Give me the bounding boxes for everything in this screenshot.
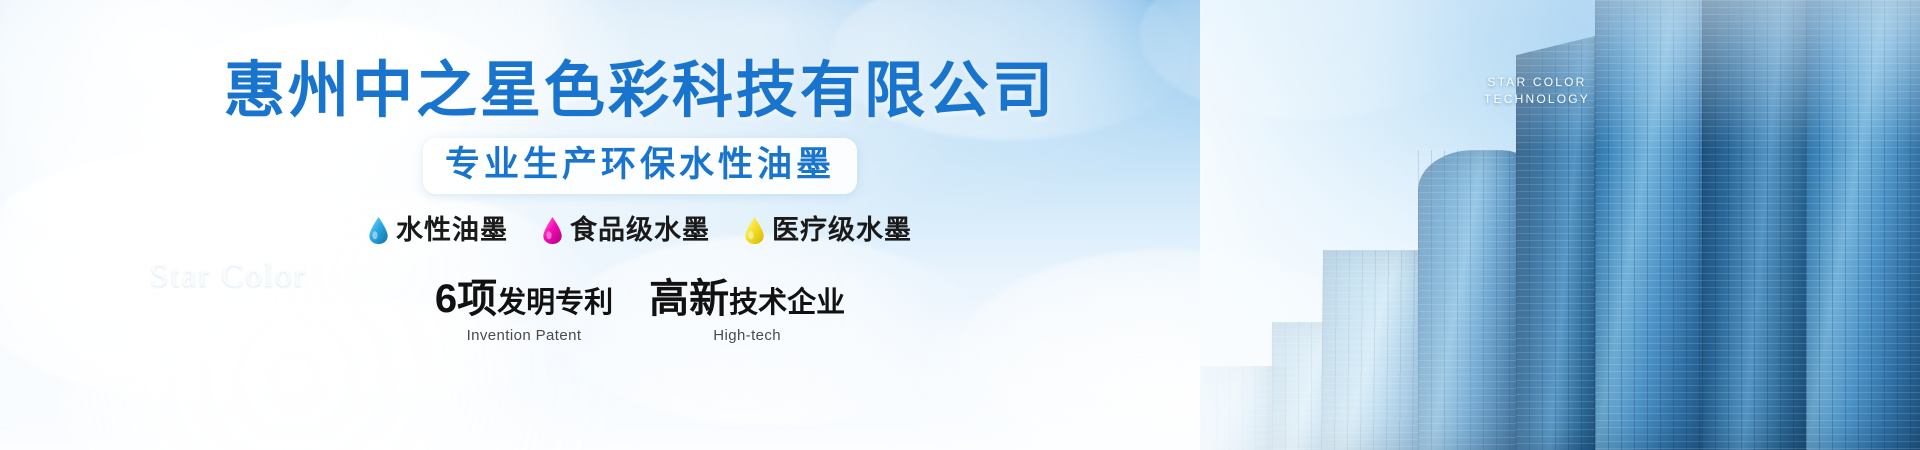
badge-small-text: 发明专利 xyxy=(497,289,613,318)
feature-item: 食品级水墨 xyxy=(542,216,710,245)
feature-item: 水性油墨 xyxy=(368,216,508,245)
badge-main-text: 高新 技术企业 xyxy=(649,279,845,319)
building-shape xyxy=(1595,0,1715,450)
feature-list: 水性油墨 食品级水墨 xyxy=(368,216,912,245)
building-shape xyxy=(1418,150,1530,450)
subtitle-text: 专业生产环保水性油墨 xyxy=(445,145,835,185)
badge-list: 6项 发明专利 Invention Patent 高新 技术企业 High-te… xyxy=(435,279,845,344)
city-skyline-image xyxy=(1200,0,1920,450)
badge-main-text: 6项 发明专利 xyxy=(435,279,613,319)
company-headline: 惠州中之星色彩科技有限公司 xyxy=(224,58,1056,122)
feature-item: 医疗级水墨 xyxy=(744,216,912,245)
building-shape xyxy=(1806,0,1920,450)
water-drop-icon xyxy=(744,216,765,245)
feature-label: 食品级水墨 xyxy=(570,217,710,244)
badge-invention-patent: 6项 发明专利 Invention Patent xyxy=(435,279,613,344)
subtitle-pill: 专业生产环保水性油墨 xyxy=(423,138,857,194)
badge-big-text: 6项 xyxy=(435,279,497,319)
badge-english-text: High-tech xyxy=(649,327,845,344)
feature-label: 水性油墨 xyxy=(396,217,508,244)
feature-label: 医疗级水墨 xyxy=(772,217,912,244)
badge-english-text: Invention Patent xyxy=(435,327,613,344)
water-drop-icon xyxy=(368,216,389,245)
badge-big-text: 高新 xyxy=(649,279,729,319)
promo-banner: STAR COLOR TECHNOLOGY Star Color 惠州中之星色彩… xyxy=(0,0,1920,450)
badge-high-tech: 高新 技术企业 High-tech xyxy=(649,279,845,344)
badge-small-text: 技术企业 xyxy=(729,289,845,318)
water-drop-icon xyxy=(542,216,563,245)
banner-content: 惠州中之星色彩科技有限公司 专业生产环保水性油墨 水性油 xyxy=(0,0,1280,450)
